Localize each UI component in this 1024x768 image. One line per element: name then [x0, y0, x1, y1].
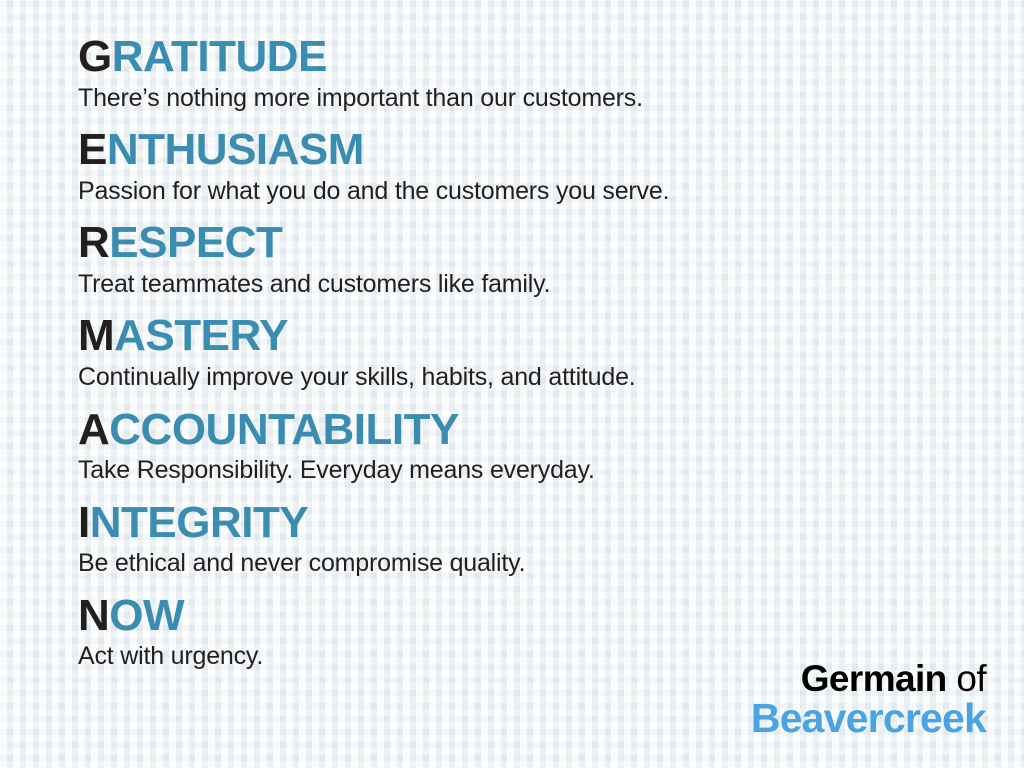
value-heading-enthusiasm: ENTHUSIASM: [78, 127, 984, 174]
logo-line-brand: Germain of: [751, 660, 986, 698]
value-initial-letter: A: [78, 405, 109, 454]
value-heading-respect: RESPECT: [78, 220, 984, 267]
value-heading-accountability: ACCOUNTABILITY: [78, 407, 984, 454]
value-heading-now: NOW: [78, 593, 984, 640]
value-description-accountability: Take Responsibility. Everyday means ever…: [78, 455, 984, 486]
value-block-integrity: INTEGRITY Be ethical and never compromis…: [78, 500, 984, 579]
value-initial-letter: I: [78, 498, 90, 547]
value-block-mastery: MASTERY Continually improve your skills,…: [78, 313, 984, 392]
value-block-accountability: ACCOUNTABILITY Take Responsibility. Ever…: [78, 407, 984, 486]
logo-location: Beavercreek: [751, 698, 986, 740]
value-block-gratitude: GRATITUDE There’s nothing more important…: [78, 34, 984, 113]
value-heading-mastery: MASTERY: [78, 313, 984, 360]
values-poster: GRATITUDE There’s nothing more important…: [0, 0, 1024, 768]
value-block-respect: RESPECT Treat teammates and customers li…: [78, 220, 984, 299]
value-initial-letter: N: [78, 591, 109, 640]
value-description-enthusiasm: Passion for what you do and the customer…: [78, 176, 984, 207]
value-initial-letter: R: [78, 218, 109, 267]
logo-brand-name: Germain: [801, 658, 947, 699]
dealership-logo: Germain of Beavercreek: [751, 660, 986, 740]
value-initial-letter: G: [78, 32, 112, 81]
logo-connector: of: [947, 658, 986, 699]
value-initial-letter: E: [78, 125, 107, 174]
value-heading-remainder: OW: [109, 591, 184, 640]
value-heading-remainder: RATITUDE: [112, 32, 327, 81]
value-description-respect: Treat teammates and customers like famil…: [78, 269, 984, 300]
value-heading-remainder: ESPECT: [109, 218, 282, 267]
value-heading-integrity: INTEGRITY: [78, 500, 984, 547]
value-heading-remainder: NTHUSIASM: [107, 125, 364, 174]
value-block-enthusiasm: ENTHUSIASM Passion for what you do and t…: [78, 127, 984, 206]
value-description-mastery: Continually improve your skills, habits,…: [78, 362, 984, 393]
value-heading-remainder: ASTERY: [114, 311, 288, 360]
value-initial-letter: M: [78, 311, 114, 360]
value-description-gratitude: There’s nothing more important than our …: [78, 83, 984, 114]
value-heading-remainder: NTEGRITY: [90, 498, 308, 547]
value-heading-gratitude: GRATITUDE: [78, 34, 984, 81]
value-description-integrity: Be ethical and never compromise quality.: [78, 548, 984, 579]
value-heading-remainder: CCOUNTABILITY: [109, 405, 459, 454]
